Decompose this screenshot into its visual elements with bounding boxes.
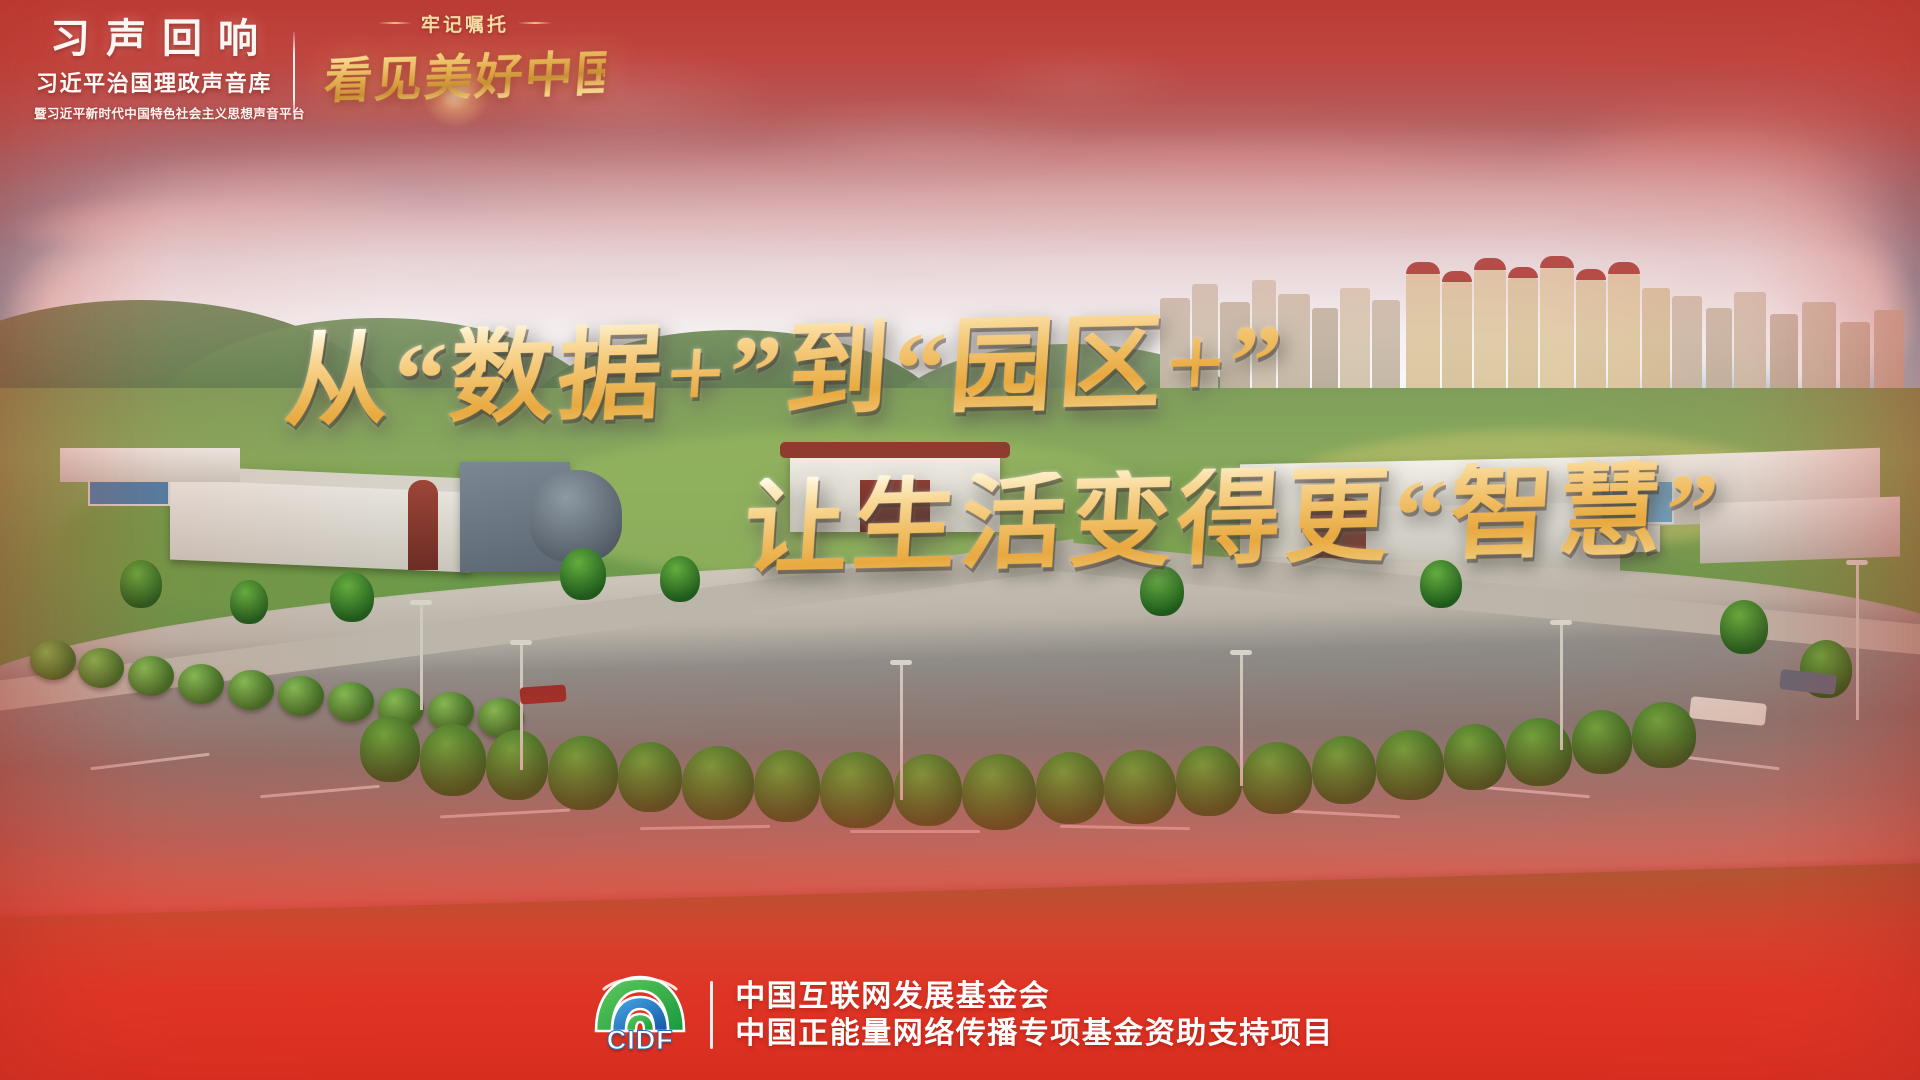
brand-tagline: 暨习近平新时代中国特色社会主义思想声音平台 [34, 103, 274, 122]
footer-line-1: 中国互联网发展基金会 [735, 982, 1334, 1012]
lane-marking [850, 830, 980, 833]
footer-text-block: 中国互联网发展基金会 中国正能量网络传播专项基金资助支持项目 [735, 982, 1334, 1049]
light-pole [1856, 560, 1859, 720]
entrance-roof [780, 442, 1010, 458]
footer-divider [710, 981, 713, 1049]
header-divider [293, 32, 295, 120]
tower-roof [1608, 262, 1640, 274]
light-pole [420, 600, 423, 710]
tower-roof [1442, 271, 1472, 282]
brand-subtitle: 习近平治国理政声音库 [34, 66, 274, 98]
tower-roof [1406, 262, 1440, 274]
cidf-logo[interactable]: CIDF [586, 969, 694, 1061]
brand-left-logo[interactable]: 习声回响 习近平治国理政声音库 暨习近平新时代中国特色社会主义思想声音平台 [34, 18, 274, 122]
motto-text: 牢记嘱托 [421, 10, 509, 37]
poster-canvas: 习声回响 习近平治国理政声音库 暨习近平新时代中国特色社会主义思想声音平台 牢记… [0, 0, 1920, 1080]
motto-row: 牢记嘱托 [325, 10, 605, 36]
cidf-arch-icon [590, 971, 690, 1033]
vehicle [519, 684, 566, 704]
title-line-1: 从“数据+”到“园区+” [282, 310, 1289, 435]
brand-right-logo[interactable]: 牢记嘱托 看见美好中国 [325, 10, 605, 108]
title-line-2: 让生活变得更“智慧” [741, 458, 1726, 582]
footer-line-2: 中国正能量网络传播专项基金资助支持项目 [735, 1019, 1334, 1049]
cidf-wordmark: CIDF [586, 1025, 694, 1056]
dash-right-icon [518, 22, 552, 24]
warehouse-2 [1700, 497, 1900, 564]
footer-credit-group: CIDF 中国互联网发展基金会 中国正能量网络传播专项基金资助支持项目 [586, 969, 1334, 1061]
tower-roof [1508, 267, 1538, 278]
white-building [60, 448, 240, 482]
tower-roof [1540, 256, 1574, 268]
tower-roof [1474, 258, 1506, 270]
light-pole [900, 660, 903, 800]
campaign-slogan: 看见美好中国 [322, 34, 608, 111]
light-pole [1560, 620, 1563, 750]
red-gate-building [408, 480, 438, 570]
footer-bar: CIDF 中国互联网发展基金会 中国正能量网络传播专项基金资助支持项目 [0, 950, 1920, 1080]
header-bar: 习声回响 习近平治国理政声音库 暨习近平新时代中国特色社会主义思想声音平台 牢记… [0, 0, 1920, 150]
tower-roof [1576, 269, 1606, 280]
light-pole [1240, 650, 1243, 786]
light-pole [520, 640, 523, 770]
brand-title: 习声回响 [34, 18, 274, 60]
dash-left-icon [378, 22, 412, 24]
